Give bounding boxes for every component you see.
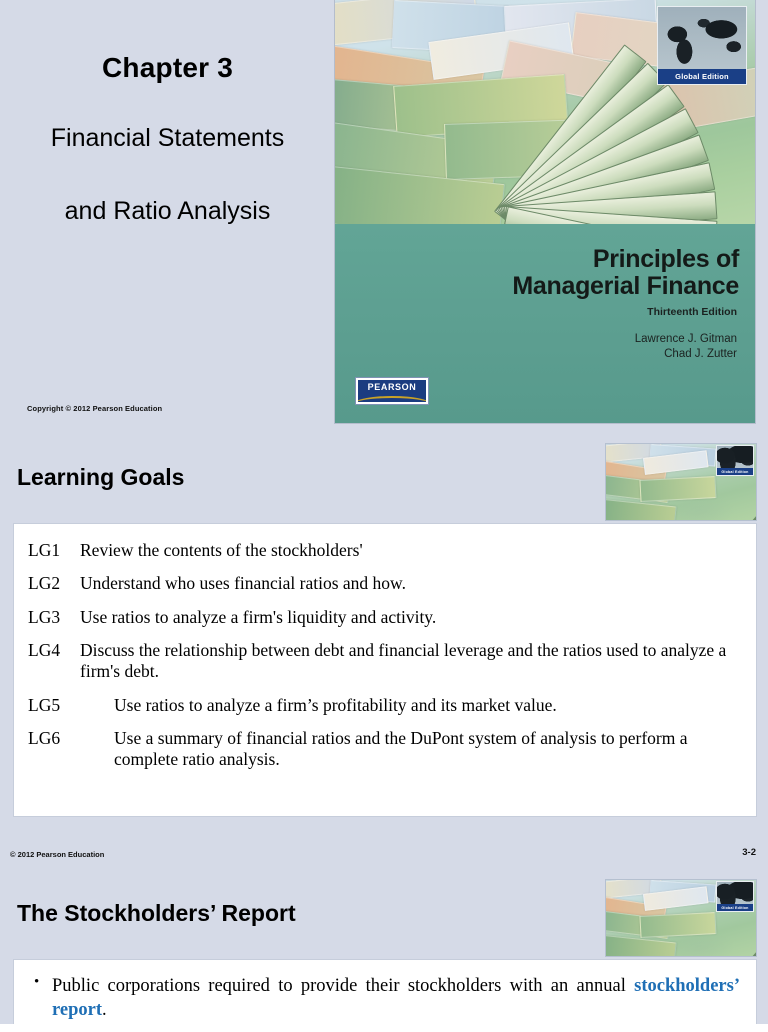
list-item: LG2 Understand who uses financial ratios… — [28, 573, 742, 594]
chapter-subtitle-line2: and Ratio Analysis — [0, 197, 335, 226]
title-block: Chapter 3 Financial Statements and Ratio… — [0, 52, 335, 226]
learning-goal-text: Use ratios to analyze a firm’s profitabi… — [114, 695, 742, 716]
banknotes-thumbnail: Global Edition — [606, 880, 756, 956]
pearson-logo-text: PEARSON — [368, 382, 417, 392]
global-edition-badge: Global Edition — [716, 881, 754, 912]
learning-goal-text: Understand who uses financial ratios and… — [80, 573, 742, 594]
learning-goal-tag: LG6 — [28, 728, 114, 771]
list-item: LG5 Use ratios to analyze a firm’s profi… — [28, 695, 742, 716]
book-cover-image: Global Edition Principles of Managerial … — [335, 0, 755, 423]
page-title: The Stockholders’ Report — [17, 900, 296, 927]
learning-goal-text: Use a summary of financial ratios and th… — [114, 728, 742, 771]
learning-goal-text: Discuss the relationship between debt an… — [80, 640, 742, 683]
banknotes-photo: Global Edition — [335, 0, 755, 224]
pearson-arc-icon — [356, 396, 428, 404]
global-edition-label: Global Edition — [717, 904, 753, 911]
book-title: Principles of Managerial Finance — [512, 246, 739, 300]
learning-goal-tag: LG2 — [28, 573, 80, 594]
book-cover-lower-panel: Principles of Managerial Finance Thirtee… — [335, 224, 755, 423]
global-edition-label: Global Edition — [717, 468, 753, 475]
book-authors: Lawrence J. Gitman Chad J. Zutter — [635, 332, 737, 361]
list-item: LG3 Use ratios to analyze a firm's liqui… — [28, 607, 742, 628]
chapter-subtitle-line1: Financial Statements — [0, 124, 335, 153]
world-map-icon — [717, 882, 753, 904]
slide-learning-goals: Learning Goals Global Edition — [0, 427, 768, 867]
learning-goals-list: LG1 Review the contents of the stockhold… — [14, 524, 756, 793]
banknotes-thumbnail: Global Edition — [606, 444, 756, 520]
book-title-line1: Principles of — [512, 246, 739, 273]
footer-copyright: © 2012 Pearson Education — [10, 850, 104, 859]
learning-goal-tag: LG1 — [28, 540, 80, 561]
learning-goal-tag: LG3 — [28, 607, 80, 628]
list-item: Public corporations required to provide … — [30, 974, 740, 1022]
slide-stockholders-report: The Stockholders’ Report Global Edition — [0, 867, 768, 1024]
world-map-icon — [717, 446, 753, 468]
global-edition-badge: Global Edition — [716, 445, 754, 476]
global-edition-badge: Global Edition — [657, 6, 747, 85]
global-edition-label: Global Edition — [658, 69, 746, 84]
book-title-line2: Managerial Finance — [512, 273, 739, 300]
list-item: LG4 Discuss the relationship between deb… — [28, 640, 742, 683]
footer-slide-number: 3-2 — [742, 847, 756, 858]
learning-goal-tag: LG5 — [28, 695, 114, 716]
learning-goal-text: Use ratios to analyze a firm's liquidity… — [80, 607, 742, 628]
dollar-bill — [753, 911, 756, 956]
book-author-2: Chad J. Zutter — [635, 347, 737, 362]
page-title: Learning Goals — [17, 464, 184, 491]
page-title: Chapter 3 — [0, 52, 335, 84]
book-edition: Thirteenth Edition — [647, 306, 737, 318]
list-item: LG6 Use a summary of financial ratios an… — [28, 728, 742, 771]
slide-title: Chapter 3 Financial Statements and Ratio… — [0, 0, 768, 427]
world-map-icon — [658, 7, 746, 69]
copyright-notice: Copyright © 2012 Pearson Education — [27, 404, 162, 413]
learning-goals-box: LG1 Review the contents of the stockhold… — [13, 523, 757, 817]
pearson-logo: PEARSON — [356, 378, 428, 404]
bullet-text-before: Public corporations required to provide … — [52, 976, 634, 996]
book-author-1: Lawrence J. Gitman — [635, 332, 737, 347]
learning-goal-tag: LG4 — [28, 640, 80, 683]
slide-deck-page: Chapter 3 Financial Statements and Ratio… — [0, 0, 768, 1024]
stockholders-report-box: Public corporations required to provide … — [13, 959, 757, 1024]
bullet-text-after: . — [102, 1000, 107, 1020]
list-item: LG1 Review the contents of the stockhold… — [28, 540, 742, 561]
bullet-list: Public corporations required to provide … — [14, 960, 756, 1032]
learning-goal-text: Review the contents of the stockholders' — [80, 540, 742, 561]
dollar-bill — [753, 475, 756, 520]
